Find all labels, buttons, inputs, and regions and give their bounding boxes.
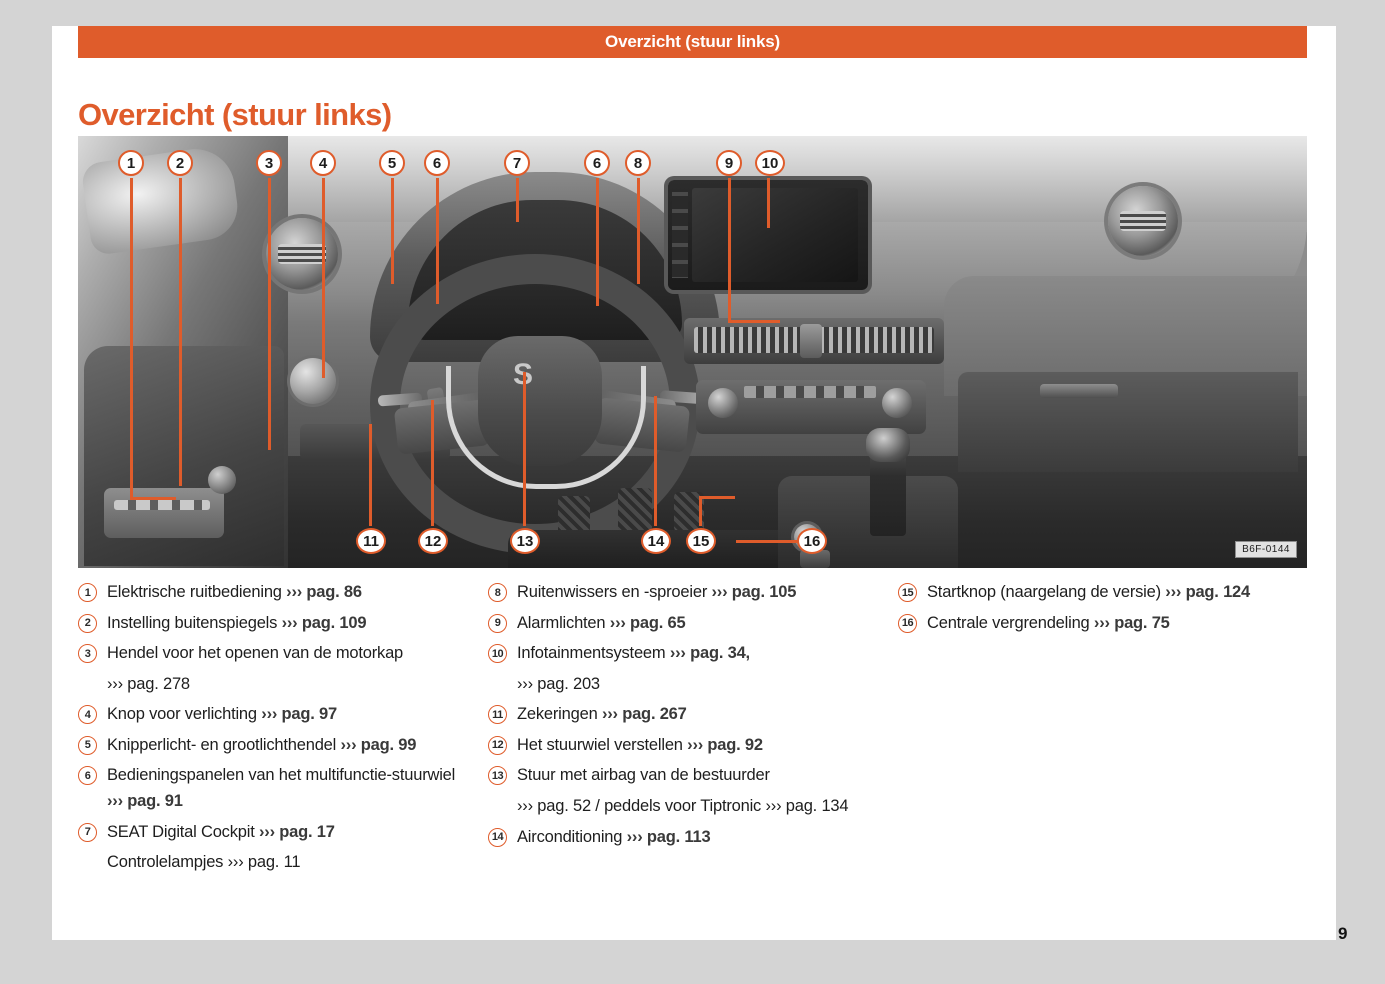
figure-callout-6-5: 6 bbox=[424, 150, 450, 176]
climate-knob-right bbox=[882, 388, 912, 418]
legend-page-reference[interactable]: ››› pag. 109 bbox=[282, 614, 367, 632]
legend-item-14[interactable]: 14Airconditioning ››› pag. 113 bbox=[488, 825, 898, 851]
legend-page-reference[interactable]: ››› pag. 91 bbox=[107, 792, 183, 810]
figure-callout-10-10: 10 bbox=[755, 150, 785, 176]
air-vent-left-icon bbox=[266, 218, 338, 290]
legend-item-4[interactable]: 4Knop voor verlichting ››› pag. 97 bbox=[78, 702, 488, 728]
legend-item-label: Startknop (naargelang de versie) ››› pag… bbox=[927, 580, 1250, 606]
figure-callout-3-2: 3 bbox=[256, 150, 282, 176]
legend-item-number: 16 bbox=[898, 614, 917, 633]
brake-pedal bbox=[618, 488, 652, 532]
running-head-bar: Overzicht (stuur links) bbox=[78, 26, 1307, 58]
hazard-light-button-icon bbox=[800, 324, 822, 358]
legend-item-5[interactable]: 5Knipperlicht- en grootlichthendel ››› p… bbox=[78, 733, 488, 759]
legend-page-reference[interactable]: ››› pag. 52 / peddels voor Tiptronic ›››… bbox=[517, 797, 848, 815]
legend-item-number: 13 bbox=[488, 766, 507, 785]
legend-page-reference[interactable]: ››› pag. 17 bbox=[259, 823, 335, 841]
legend-item-3[interactable]: 3Hendel voor het openen van de motorkap bbox=[78, 641, 488, 667]
legend-item-12[interactable]: 12Het stuurwiel verstellen ››› pag. 92 bbox=[488, 733, 898, 759]
legend-item-13[interactable]: 13Stuur met airbag van de bestuurder bbox=[488, 763, 898, 789]
figure-callout-16-16: 16 bbox=[797, 528, 827, 554]
leader-line-3 bbox=[268, 178, 271, 450]
legend-page-reference[interactable]: ››› pag. 97 bbox=[261, 705, 337, 723]
figure-callout-1-0: 1 bbox=[118, 150, 144, 176]
leader-line-14 bbox=[654, 396, 657, 526]
legend-item-11[interactable]: 11Zekeringen ››› pag. 267 bbox=[488, 702, 898, 728]
leader-line-15 bbox=[699, 496, 702, 526]
legend-page-reference[interactable]: ››› pag. 278 bbox=[107, 675, 190, 693]
legend-item-label: Ruitenwissers en -sproeier ››› pag. 105 bbox=[517, 580, 796, 606]
mirror-adjust-knob bbox=[208, 466, 236, 494]
legend-item-6[interactable]: 6Bedieningspanelen van het multifunctie-… bbox=[78, 763, 488, 814]
legend-page-reference[interactable]: ››› pag. 124 bbox=[1165, 583, 1250, 601]
figure-callout-12-12: 12 bbox=[418, 528, 448, 554]
legend-page-reference[interactable]: ››› pag. 113 bbox=[627, 828, 711, 846]
legend-page-reference[interactable]: ››› pag. 105 bbox=[712, 583, 797, 601]
legend-list: 1Elektrische ruitbediening ››› pag. 862I… bbox=[78, 580, 1307, 881]
leader-line-13 bbox=[523, 372, 526, 526]
figure-callout-5-4: 5 bbox=[379, 150, 405, 176]
leader-line-10 bbox=[767, 178, 770, 228]
figure-callout-11-11: 11 bbox=[356, 528, 386, 554]
legend-item-label: Instelling buitenspiegels ››› pag. 109 bbox=[107, 611, 366, 637]
legend-item-number: 14 bbox=[488, 828, 507, 847]
figure-callout-9-9: 9 bbox=[716, 150, 742, 176]
legend-page-reference[interactable]: ››› pag. 267 bbox=[602, 705, 687, 723]
legend-column-3: 15Startknop (naargelang de versie) ››› p… bbox=[898, 580, 1298, 881]
legend-item-number: 6 bbox=[78, 766, 97, 785]
legend-item-label: Airconditioning ››› pag. 113 bbox=[517, 825, 710, 851]
legend-item-number: 5 bbox=[78, 736, 97, 755]
legend-item-label: Het stuurwiel verstellen ››› pag. 92 bbox=[517, 733, 763, 759]
legend-item-7[interactable]: 7SEAT Digital Cockpit ››› pag. 17 bbox=[78, 820, 488, 846]
legend-page-reference[interactable]: ››› pag. 99 bbox=[341, 736, 417, 754]
legend-item-label: Elektrische ruitbediening ››› pag. 86 bbox=[107, 580, 362, 606]
legend-page-reference[interactable]: ››› pag. 86 bbox=[286, 583, 362, 601]
legend-item-label: Stuur met airbag van de bestuurder bbox=[517, 763, 770, 789]
figure-callout-14-14: 14 bbox=[641, 528, 671, 554]
legend-item-13-continuation[interactable]: ››› pag. 52 / peddels voor Tiptronic ›››… bbox=[517, 794, 898, 820]
legend-item-label: Centrale vergrendeling ››› pag. 75 bbox=[927, 611, 1170, 637]
page-title: Overzicht (stuur links) bbox=[78, 97, 392, 133]
legend-item-label: Zekeringen ››› pag. 267 bbox=[517, 702, 687, 728]
legend-column-1: 1Elektrische ruitbediening ››› pag. 862I… bbox=[78, 580, 488, 881]
leader-line-15b bbox=[699, 496, 735, 499]
legend-item-number: 12 bbox=[488, 736, 507, 755]
legend-page-reference[interactable]: ››› pag. 92 bbox=[687, 736, 763, 754]
legend-item-number: 9 bbox=[488, 614, 507, 633]
leader-line-9 bbox=[728, 178, 731, 320]
climate-buttons-row bbox=[744, 386, 876, 398]
legend-item-label: Alarmlichten ››› pag. 65 bbox=[517, 611, 686, 637]
leader-line-6a bbox=[436, 178, 439, 304]
light-switch-knob bbox=[290, 358, 336, 404]
legend-item-label: Hendel voor het openen van de motorkap bbox=[107, 641, 403, 667]
legend-item-number: 4 bbox=[78, 705, 97, 724]
legend-item-label: Knop voor verlichting ››› pag. 97 bbox=[107, 702, 337, 728]
legend-page-reference[interactable]: ››› pag. 11 bbox=[228, 853, 301, 871]
legend-item-number: 1 bbox=[78, 583, 97, 602]
climate-knob-left bbox=[708, 388, 738, 418]
legend-page-reference[interactable]: ››› pag. 34, bbox=[670, 644, 750, 662]
figure-callout-4-3: 4 bbox=[310, 150, 336, 176]
legend-item-number: 7 bbox=[78, 823, 97, 842]
leader-line-12 bbox=[431, 400, 434, 526]
legend-item-number: 8 bbox=[488, 583, 507, 602]
legend-page-reference[interactable]: ››› pag. 75 bbox=[1094, 614, 1170, 632]
figure-callout-6-7: 6 bbox=[584, 150, 610, 176]
legend-item-1[interactable]: 1Elektrische ruitbediening ››› pag. 86 bbox=[78, 580, 488, 606]
leader-line-9b bbox=[728, 320, 780, 323]
leader-line-2 bbox=[179, 178, 182, 486]
legend-item-number: 2 bbox=[78, 614, 97, 633]
window-switch-cluster bbox=[104, 488, 224, 538]
legend-item-9[interactable]: 9Alarmlichten ››› pag. 65 bbox=[488, 611, 898, 637]
leader-line-5 bbox=[391, 178, 394, 284]
air-vent-right-icon bbox=[1108, 186, 1178, 256]
legend-page-reference[interactable]: ››› pag. 65 bbox=[610, 614, 686, 632]
legend-item-number: 10 bbox=[488, 644, 507, 663]
leader-line-4 bbox=[322, 178, 325, 378]
leader-line-16 bbox=[736, 540, 800, 543]
glovebox-handle bbox=[1040, 384, 1118, 398]
running-head-title: Overzicht (stuur links) bbox=[605, 32, 780, 52]
figure-callout-7-6: 7 bbox=[504, 150, 530, 176]
infotainment-screen bbox=[692, 188, 858, 282]
legend-item-16[interactable]: 16Centrale vergrendeling ››› pag. 75 bbox=[898, 611, 1298, 637]
legend-page-reference[interactable]: ››› pag. 203 bbox=[517, 675, 600, 693]
figure-callout-15-15: 15 bbox=[686, 528, 716, 554]
leader-line-1 bbox=[130, 178, 133, 500]
legend-item-number: 11 bbox=[488, 705, 507, 724]
gear-knob bbox=[866, 428, 910, 462]
figure-watermark: B6F-0144 bbox=[1235, 541, 1297, 558]
infotainment-side-buttons bbox=[672, 192, 688, 278]
leader-line-7 bbox=[516, 178, 519, 222]
legend-item-3-continuation[interactable]: ››› pag. 278 bbox=[107, 672, 488, 698]
seat-logo-icon: S bbox=[513, 358, 567, 392]
legend-item-label: Infotainmentsysteem ››› pag. 34, bbox=[517, 641, 750, 667]
figure-callout-13-13: 13 bbox=[510, 528, 540, 554]
legend-item-15[interactable]: 15Startknop (naargelang de versie) ››› p… bbox=[898, 580, 1298, 606]
page-number: 9 bbox=[1338, 924, 1347, 944]
legend-item-number: 15 bbox=[898, 583, 917, 602]
legend-item-7-extra[interactable]: Controlelampjes ››› pag. 11 bbox=[107, 850, 488, 876]
legend-column-2: 8Ruitenwissers en -sproeier ››› pag. 105… bbox=[488, 580, 898, 881]
figure-callout-2-1: 2 bbox=[167, 150, 193, 176]
leader-line-11 bbox=[369, 424, 372, 526]
figure-callout-8-8: 8 bbox=[625, 150, 651, 176]
legend-item-10-continuation[interactable]: ››› pag. 203 bbox=[517, 672, 898, 698]
legend-item-number: 3 bbox=[78, 644, 97, 663]
legend-item-label: Knipperlicht- en grootlichthendel ››› pa… bbox=[107, 733, 416, 759]
leader-line-8 bbox=[637, 178, 640, 284]
leader-line-6b bbox=[596, 178, 599, 306]
dashboard-figure: S B6F-0144 bbox=[78, 136, 1307, 568]
legend-item-label: Bedieningspanelen van het multifunctie-s… bbox=[107, 763, 488, 814]
legend-item-label: SEAT Digital Cockpit ››› pag. 17 bbox=[107, 820, 335, 846]
legend-item-2[interactable]: 2Instelling buitenspiegels ››› pag. 109 bbox=[78, 611, 488, 637]
legend-item-10[interactable]: 10Infotainmentsysteem ››› pag. 34, bbox=[488, 641, 898, 667]
glovebox bbox=[958, 372, 1298, 472]
legend-item-8[interactable]: 8Ruitenwissers en -sproeier ››› pag. 105 bbox=[488, 580, 898, 606]
leader-line-1b bbox=[130, 497, 176, 500]
